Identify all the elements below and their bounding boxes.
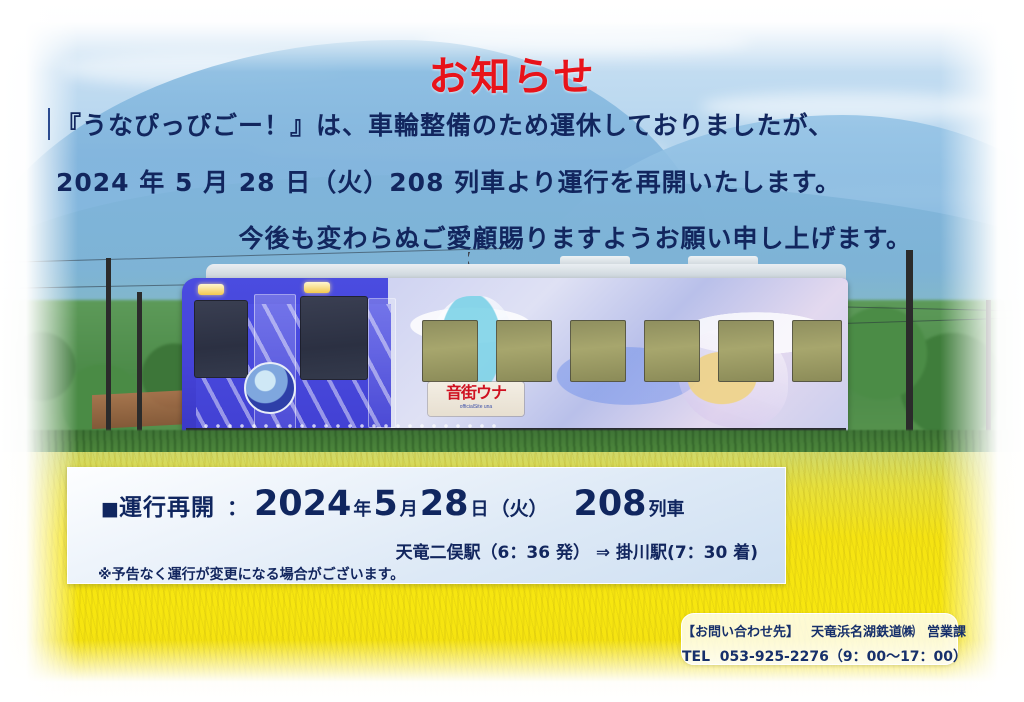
tel-label: TEL [682,649,710,665]
poster-canvas: 音街ウナ officialSite una お知らせ 『うなぴっぴごー！』は、車… [0,0,1024,702]
train-unit-label: 列車 [647,499,687,520]
resumption-month: 5 [373,484,397,524]
notice-content-layer: お知らせ 『うなぴっぴごー！』は、車輪整備のため運休しておりましたが、 2024… [0,0,1024,702]
resumption-year: 2024 [254,484,351,524]
tel-hours: （9：00～17：00） [829,649,967,665]
contact-department: 営業課 [927,625,966,640]
resumption-headline-row: ■運行再開：2024年5月28日（火）208列車 [101,484,687,524]
train-number: 208 [573,484,646,524]
tel-number[interactable]: 053-925-2276 [720,649,829,665]
notice-body-line-3: 今後も変わらぬご愛顧賜りますようお願い申し上げます。 [56,219,1024,255]
resumption-day: 28 [420,484,469,524]
service-resumption-panel: ■運行再開：2024年5月28日（火）208列車 天竜二俣駅（6：36 発） ⇒… [67,467,786,584]
contact-company: 天竜浜名湖鉄道㈱ [811,625,915,640]
contact-heading-row: 【お問い合わせ先】天竜浜名湖鉄道㈱営業課 [682,621,957,640]
day-unit-label: 日 [468,499,490,520]
route-and-times: 天竜二俣駅（6：36 発） ⇒ 掛川駅(7：30 着) [396,538,758,563]
schedule-change-note: ※予告なく運行が変更になる場合がございます。 [98,564,404,584]
month-unit-label: 月 [398,499,420,520]
notice-body: 『うなぴっぴごー！』は、車輪整備のため運休しておりましたが、 2024 年 5 … [0,106,1024,255]
resumption-label: 運行再開 [119,495,215,521]
notice-body-line-1: 『うなぴっぴごー！』は、車輪整備のため運休しておりましたが、 [56,106,1024,142]
contact-heading: 【お問い合わせ先】 [682,625,799,640]
contact-information-box: 【お問い合わせ先】天竜浜名湖鉄道㈱営業課 TEL 053-925-2276（9：… [681,613,958,665]
page-title: お知らせ [0,44,1024,102]
year-unit-label: 年 [351,499,373,520]
bullet-square-icon: ■ [101,498,119,520]
notice-body-line-2: 2024 年 5 月 28 日（火）208 列車より運行を再開いたします。 [56,163,1024,199]
contact-tel-row: TEL 053-925-2276（9：00～17：00） [682,646,957,666]
resumption-colon: ： [215,496,254,520]
resumption-weekday: （火） [490,498,547,520]
